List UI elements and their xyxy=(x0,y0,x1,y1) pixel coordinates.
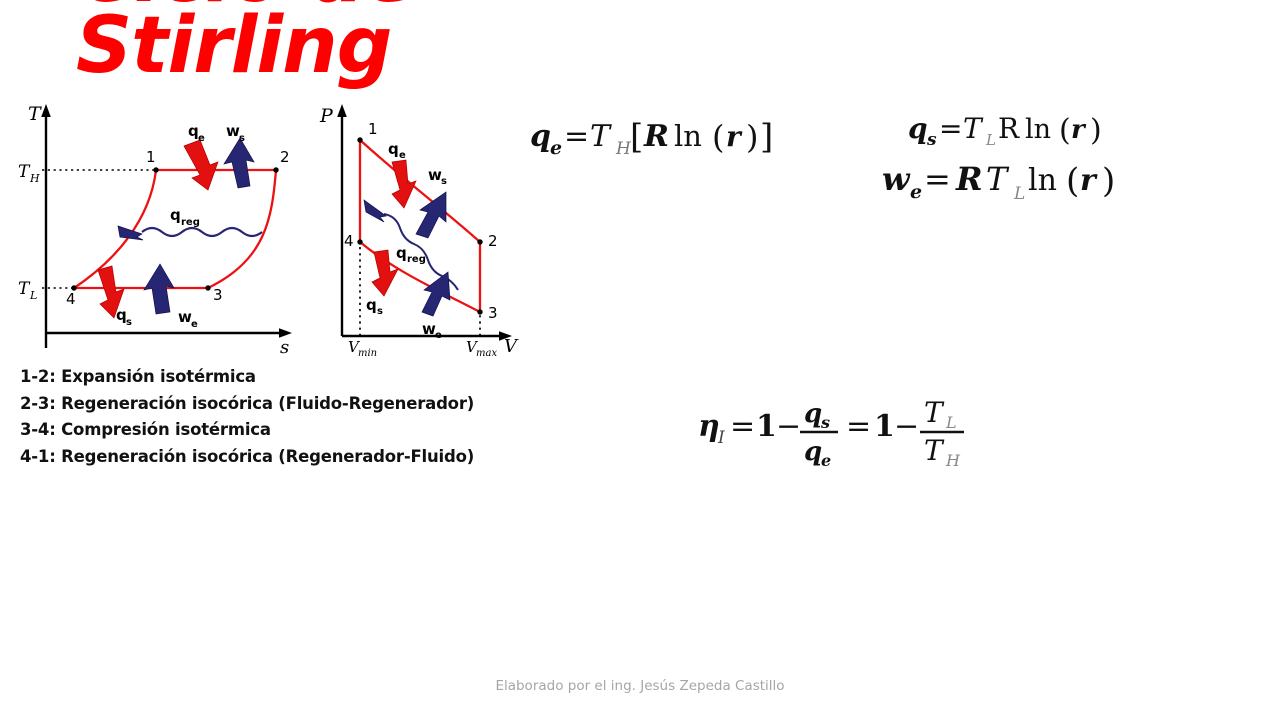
equation-work-expansion: w e = R T L ln ( r ) xyxy=(880,152,1150,208)
ts-work-out-label-main: w xyxy=(226,122,240,140)
list-item: 3-4: Compresión isotérmica xyxy=(20,417,490,444)
ts-tick-th-sub: H xyxy=(29,172,40,185)
eq-qe-gas-constant: R xyxy=(643,119,669,154)
pv-heat-in-arrow xyxy=(392,160,416,208)
eq-eta-equals-2: = xyxy=(846,409,871,444)
eq-eta-frac2-den-main: T xyxy=(924,434,945,467)
temperature-entropy-diagram: T s T H T L 1 2 3 4 q e w s xyxy=(10,100,310,360)
equation-thermal-efficiency: η I = 1 − q s q e = 1 − T L T H xyxy=(696,388,1006,472)
ts-tick-tl-sub: L xyxy=(29,289,37,302)
eq-eta-one-b: 1 xyxy=(874,409,895,444)
pv-tick-vmin: V min xyxy=(348,338,377,359)
ts-work-out-label-sub: s xyxy=(239,133,245,144)
ts-regen-wave xyxy=(118,226,262,240)
eq-eta-subscript: I xyxy=(717,428,725,448)
eq-qe-equals: = xyxy=(564,119,589,154)
page-title: Stirling xyxy=(76,6,392,88)
eq-we-paren-close: ) xyxy=(1102,161,1115,201)
pv-state-label-2: 2 xyxy=(488,232,498,250)
eq-qs-lhs-sub: s xyxy=(926,130,937,150)
equation-heat-input: q e = T H [ R ln ( r ) ] xyxy=(528,108,788,164)
eq-qe-bracket-close: ] xyxy=(760,117,773,157)
eq-eta-one-a: 1 xyxy=(756,409,777,444)
eq-we-ln: ln xyxy=(1028,163,1057,198)
pv-heat-out-label-sub: s xyxy=(377,306,383,317)
eq-eta-frac1-num-sub: s xyxy=(820,413,830,432)
pv-heat-in-label-main: q xyxy=(388,140,399,158)
eq-we-equals: = xyxy=(924,160,951,198)
pv-work-out-arrow xyxy=(416,192,446,238)
eq-we-paren-open: ( xyxy=(1066,161,1079,201)
eq-we-temp-sub: L xyxy=(1013,184,1025,204)
eq-qe-paren-open: ( xyxy=(712,118,724,156)
pv-work-in-arrow xyxy=(422,272,450,316)
pv-work-in-label-main: w xyxy=(422,320,436,338)
pv-tick-vmin-sub: min xyxy=(358,348,377,359)
pv-state-label-1: 1 xyxy=(368,120,378,138)
ts-work-in-label-main: w xyxy=(178,308,192,326)
ts-state-label-4: 4 xyxy=(66,290,76,308)
eq-qs-ratio: r xyxy=(1071,115,1087,145)
eq-qs-equals: = xyxy=(939,112,962,145)
eq-eta-frac1-den-sub: e xyxy=(821,451,831,470)
process-description-list: 1-2: Expansión isotérmica 2-3: Regenerac… xyxy=(20,364,490,470)
pv-work-out-label-sub: s xyxy=(441,176,447,187)
list-item: 1-2: Expansión isotérmica xyxy=(20,364,490,391)
pv-work-in-label-sub: e xyxy=(435,330,442,341)
footer-credit: Elaborado por el ing. Jesús Zepeda Casti… xyxy=(0,678,1280,694)
eq-qs-temp-main: T xyxy=(963,112,984,145)
eq-eta-frac2-num-sub: L xyxy=(945,413,957,432)
eq-eta-frac1-den-main: q xyxy=(804,437,822,467)
pv-heat-out-label-main: q xyxy=(366,296,377,314)
ts-heat-in-arrow xyxy=(184,140,218,190)
eq-eta-minus-a: − xyxy=(776,409,801,444)
pv-heat-in-label-sub: e xyxy=(399,150,406,161)
pv-x-axis-label: V xyxy=(504,336,519,357)
eq-qe-ln: ln xyxy=(674,119,702,153)
eq-qe-lhs-sub: e xyxy=(550,137,562,159)
list-item: 2-3: Regeneración isocórica (Fluido-Rege… xyxy=(20,391,490,418)
ts-regen-label-sub: reg xyxy=(181,217,200,228)
eq-we-lhs-sub: e xyxy=(910,181,922,203)
pv-state-label-3: 3 xyxy=(488,304,498,322)
pv-tick-vmax-sub: max xyxy=(476,348,497,359)
ts-heat-out-label-sub: s xyxy=(126,317,132,328)
eq-eta-equals-1: = xyxy=(730,409,755,444)
ts-regen-label-main: q xyxy=(170,206,181,224)
eq-eta-frac2-den-sub: H xyxy=(945,451,961,470)
eq-qe-bracket-open: [ xyxy=(630,117,643,157)
eq-we-lhs-main: w xyxy=(882,160,911,198)
eq-qs-gas-constant: R xyxy=(998,112,1020,145)
pv-state-label-4: 4 xyxy=(344,232,354,250)
ts-tick-tl: T L xyxy=(18,279,37,302)
eq-eta-frac1-num-main: q xyxy=(804,399,822,429)
eq-qe-temp-main: T xyxy=(590,119,612,154)
ts-state-label-1: 1 xyxy=(146,148,156,166)
eq-we-gas-constant: R xyxy=(955,160,983,198)
ts-tick-th: T H xyxy=(18,162,40,185)
pv-regen-label-main: q xyxy=(396,244,407,262)
eq-qs-paren-open: ( xyxy=(1059,113,1071,148)
ts-work-out-arrow xyxy=(224,138,254,188)
eq-qe-lhs-main: q xyxy=(530,119,551,154)
eq-qs-lhs-main: q xyxy=(908,112,928,145)
ts-state-label-2: 2 xyxy=(280,148,290,166)
ts-state-label-3: 3 xyxy=(213,286,223,304)
pv-work-out-label-main: w xyxy=(428,166,442,184)
list-item: 4-1: Regeneración isocórica (Regenerador… xyxy=(20,444,490,471)
pv-tick-vmax: V max xyxy=(466,338,497,359)
eq-eta-symbol: η xyxy=(698,409,720,444)
equation-heat-rejected: q s = T L R ln ( r ) xyxy=(906,104,1126,154)
eq-we-ratio: r xyxy=(1080,163,1098,198)
pressure-volume-diagram: P V V min V max 1 2 3 4 q e w s xyxy=(312,100,527,360)
eq-qs-temp-sub: L xyxy=(985,131,996,149)
eq-qe-paren-close: ) xyxy=(746,118,758,156)
ts-work-in-label-sub: e xyxy=(191,319,198,330)
eq-qs-ln: ln xyxy=(1025,114,1051,145)
eq-eta-frac2-num-main: T xyxy=(924,396,945,429)
eq-qe-ratio: r xyxy=(726,120,743,153)
ts-heat-in-label-sub: e xyxy=(198,133,205,144)
ts-x-axis-label: s xyxy=(280,337,289,358)
eq-qs-paren-close: ) xyxy=(1090,113,1102,148)
pv-regen-label-sub: reg xyxy=(407,254,426,265)
eq-we-temp-main: T xyxy=(986,160,1010,198)
pv-y-axis-label: P xyxy=(319,105,334,127)
eq-eta-minus-b: − xyxy=(894,409,919,444)
ts-y-axis-label: T xyxy=(28,103,42,125)
pv-heat-out-arrow xyxy=(372,250,398,296)
